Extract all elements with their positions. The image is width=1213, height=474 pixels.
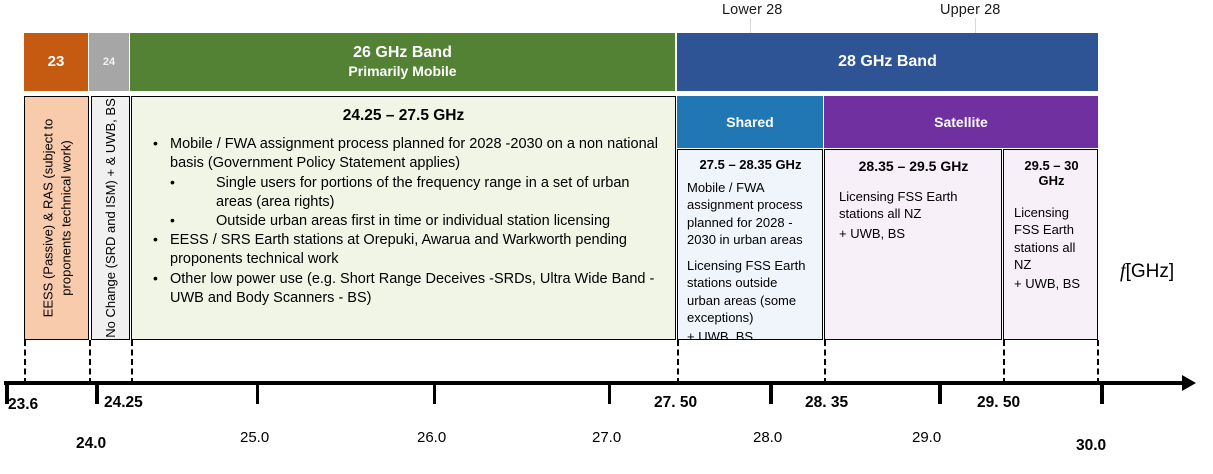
paragraph: + UWB, BS [1014,275,1089,292]
band-header-26ghz: 26 GHz Band Primarily Mobile [130,33,675,91]
band-header-23: 23 [24,33,88,91]
detail-box-shared: 27.5 – 28.35 GHz Mobile / FWA assignment… [677,149,823,340]
list-item: Single users for portions of the frequen… [144,174,663,212]
detail-box-26ghz-title: 24.25 – 27.5 GHz [144,107,663,125]
detail-box-satellite-low: 28.35 – 29.5 GHz Licensing FSS Earth sta… [824,149,1002,340]
column-eess-passive-ras: EESS (Passive) & RAS (subject to propone… [24,96,89,340]
detail-box-satellite-low-title: 28.35 – 29.5 GHz [834,158,993,174]
detail-box-26ghz: 24.25 – 27.5 GHz Mobile / FWA assignment… [131,96,676,340]
connector-dash-24-25 [131,340,133,384]
sub-list-wrapper: Single users for portions of the frequen… [144,174,663,232]
axis-label-23-6: 23.6 [8,396,38,414]
band-header-24: 24 [89,33,129,91]
axis-tick-24-25 [95,381,99,404]
axis-label-27-50: 27. 50 [654,394,697,412]
detail-box-shared-body: Mobile / FWA assignment process planned … [687,179,814,340]
axis-tick-29-50 [1100,381,1104,404]
axis-tick-28-35 [938,381,942,404]
paragraph: + UWB, BS [687,328,814,340]
frequency-axis-arrow [1182,375,1196,391]
paragraph: Mobile / FWA assignment process planned … [687,179,814,248]
detail-box-26ghz-bullet-list: Mobile / FWA assignment process planned … [144,135,663,308]
axis-label-29-0: 29.0 [912,429,941,446]
detail-box-satellite-low-body: Licensing FSS Earth stations all NZ + UW… [834,188,993,242]
subband-header-satellite: Satellite [824,96,1098,148]
column-no-change: No Change (SRD and ISM) + & UWB, BS [91,96,130,340]
axis-tick-25-0 [256,381,259,404]
connector-dash-30-0 [1097,340,1099,384]
axis-unit-label: f[GHz] [1120,260,1174,283]
subband-header-shared: Shared [677,96,823,148]
band-header-28ghz-label: 28 GHz Band [838,53,937,72]
band-header-26ghz-label: 26 GHz Band [353,44,452,63]
detail-box-26ghz-sub-bullet-list: Single users for portions of the frequen… [144,174,663,232]
detail-box-shared-title: 27.5 – 28.35 GHz [687,157,814,172]
connector-dash-23-6 [24,340,26,384]
axis-label-24-25: 24.25 [104,394,143,412]
connector-dash-24-0 [89,340,91,384]
frequency-axis-line [4,381,1184,385]
subband-header-shared-label: Shared [726,114,773,131]
axis-label-29-50: 29. 50 [977,394,1020,412]
axis-tick-26-0 [433,381,436,404]
axis-label-30-0: 30.0 [1076,437,1106,455]
list-item: Other low power use (e.g. Short Range De… [144,270,663,308]
subband-header-satellite-label: Satellite [934,114,988,131]
axis-unit-ghz: [GHz] [1126,261,1175,282]
axis-label-24-0: 24.0 [76,435,106,453]
band-header-26ghz-sublabel: Primarily Mobile [348,63,456,80]
detail-box-satellite-high-title: 29.5 – 30 GHz [1014,158,1089,188]
connector-dash-29-50 [1003,340,1005,384]
list-item: EESS / SRS Earth stations at Orepuki, Aw… [144,231,663,269]
callout-upper-28: Upper 28 [940,2,1000,18]
detail-box-satellite-high-body: Licensing FSS Earth stations all NZ + UW… [1014,204,1089,292]
spectrum-allocation-diagram: Lower 28 Upper 28 23 24 26 GHz Band Prim… [0,0,1213,474]
list-item: Mobile / FWA assignment process planned … [144,135,663,173]
paragraph: Licensing FSS Earth stations all NZ [1014,204,1089,273]
column-eess-passive-ras-label: EESS (Passive) & RAS (subject to propone… [39,103,74,333]
band-header-23-label: 23 [48,53,65,71]
axis-label-28-0: 28.0 [753,429,782,446]
axis-label-26-0: 26.0 [417,429,446,446]
axis-label-25-0: 25.0 [240,429,269,446]
axis-label-27-0: 27.0 [592,429,621,446]
axis-tick-27-50 [769,381,773,404]
connector-dash-27-50 [677,340,679,384]
list-item: Outside urban areas first in time or ind… [144,212,663,231]
axis-tick-27-0 [608,381,611,404]
axis-label-28-35: 28. 35 [805,394,848,412]
paragraph: + UWB, BS [839,225,993,242]
band-header-28ghz: 28 GHz Band [677,33,1098,91]
paragraph: Licensing FSS Earth stations all NZ [839,188,993,223]
detail-box-satellite-high: 29.5 – 30 GHz Licensing FSS Earth statio… [1003,149,1098,340]
connector-dash-28-35 [824,340,826,384]
callout-lower-28: Lower 28 [722,2,782,18]
column-no-change-label: No Change (SRD and ISM) + & UWB, BS [102,98,120,338]
band-header-24-label: 24 [103,56,115,69]
paragraph: Licensing FSS Earth stations outside urb… [687,257,814,326]
